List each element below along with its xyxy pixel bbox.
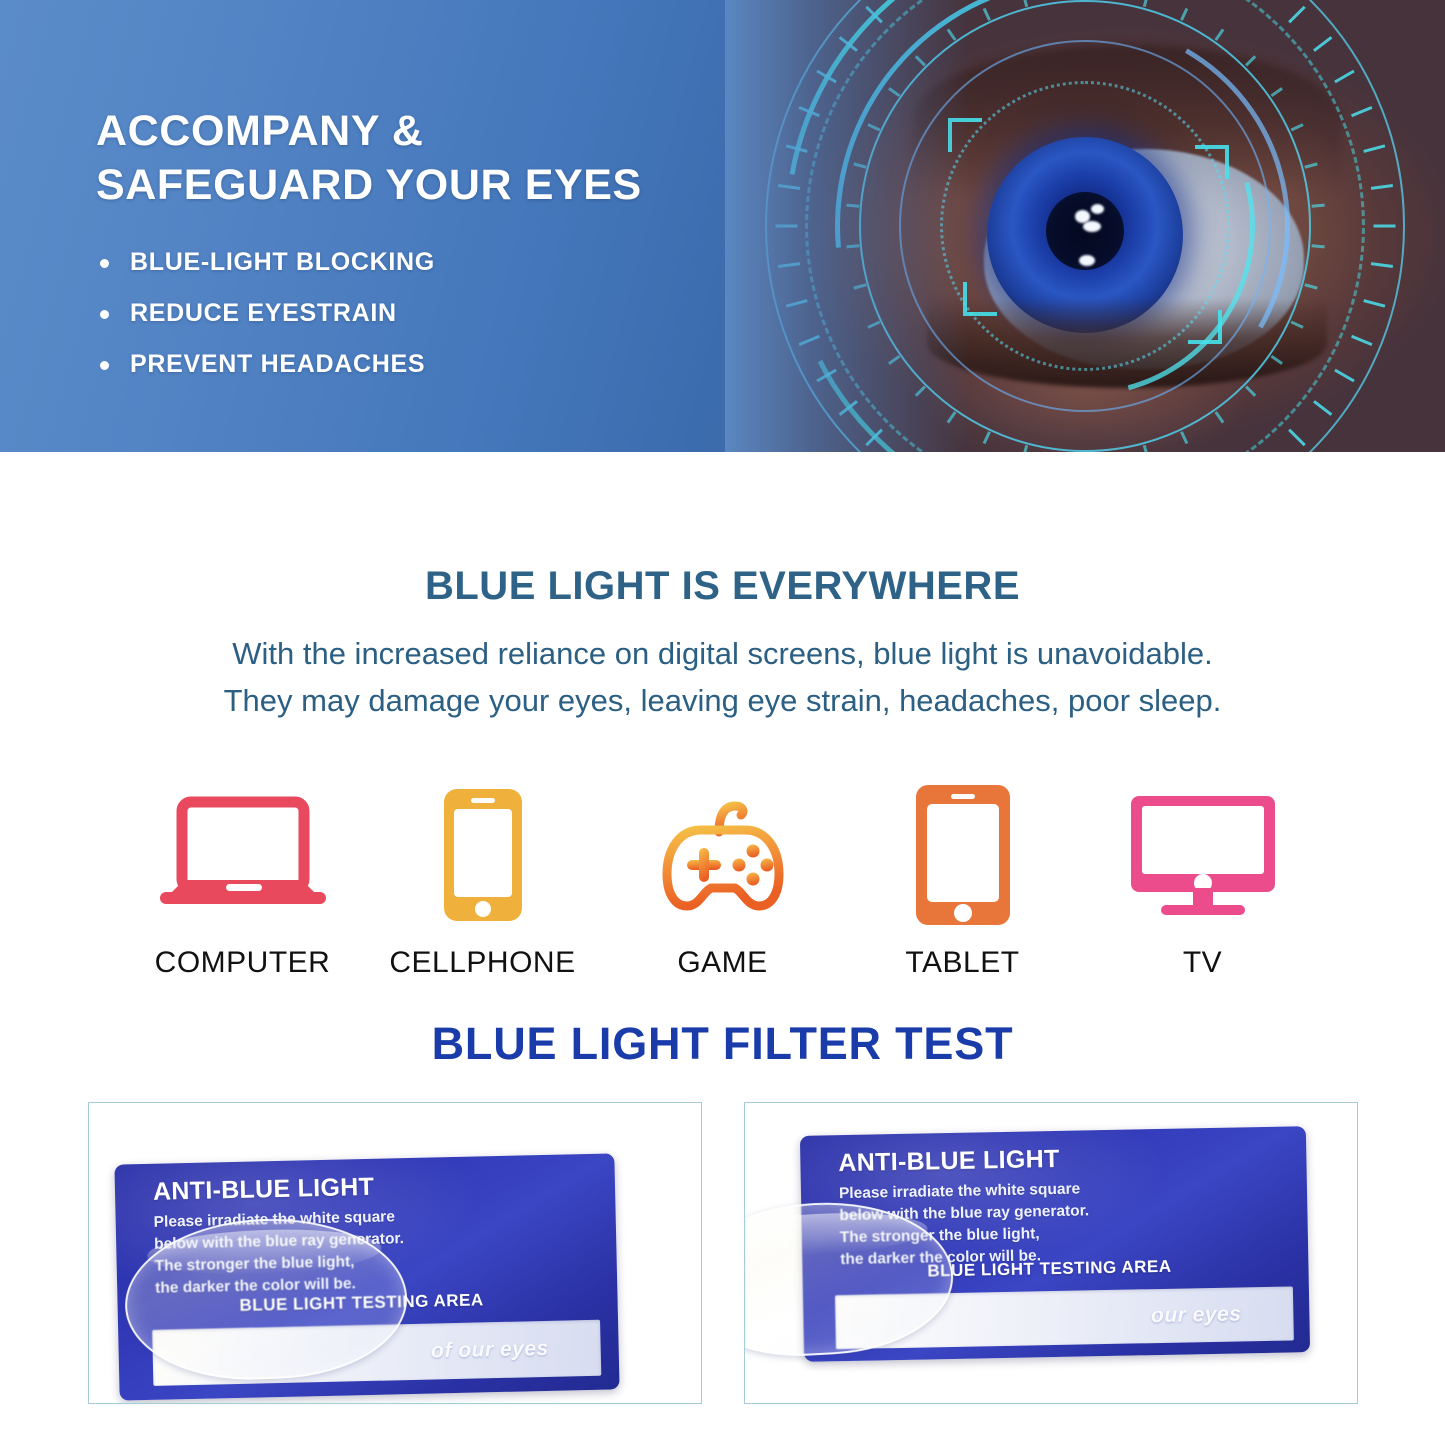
section-heading-everywhere: BLUE LIGHT IS EVERYWHERE <box>0 564 1445 609</box>
section-subtitle-everywhere: With the increased reliance on digital s… <box>0 631 1445 724</box>
eye-hud-image <box>725 0 1445 452</box>
hero-benefit-list: BLUE-LIGHT BLOCKING REDUCE EYESTRAIN PRE… <box>96 248 716 379</box>
device-label: CELLPHONE <box>373 946 593 980</box>
hero-title-line-2: SAFEGUARD YOUR EYES <box>96 158 716 212</box>
filter-test-panel-left: ANTI-BLUE LIGHT Please irradiate the whi… <box>88 1102 702 1404</box>
device-label: COMPUTER <box>133 946 353 980</box>
device-label: TV <box>1093 946 1313 980</box>
card-strip-text: of our eyes <box>431 1337 549 1364</box>
section-heading-filter-test: BLUE LIGHT FILTER TEST <box>0 1018 1445 1070</box>
device-item-game: GAME <box>613 780 833 980</box>
device-item-tablet: TABLET <box>853 780 1073 980</box>
card-strip-text: our eyes <box>1151 1302 1242 1328</box>
filter-test-panel-right: ANTI-BLUE LIGHT Please irradiate the whi… <box>744 1102 1358 1404</box>
device-item-tv: TV <box>1093 780 1313 980</box>
hero-benefit-item: PREVENT HEADACHES <box>96 350 716 379</box>
tablet-icon <box>853 780 1073 930</box>
subtitle-line-2: They may damage your eyes, leaving eye s… <box>0 678 1445 725</box>
hero-banner: ACCOMPANY & SAFEGUARD YOUR EYES BLUE-LIG… <box>0 0 1445 452</box>
smartphone-icon <box>373 780 593 930</box>
filter-test-panels: ANTI-BLUE LIGHT Please irradiate the whi… <box>88 1102 1358 1404</box>
card-instruction-line-1: Please irradiate the white square <box>839 1178 1089 1205</box>
blue-light-everywhere-section: BLUE LIGHT IS EVERYWHERE With the increa… <box>0 452 1445 980</box>
device-label: TABLET <box>853 946 1073 980</box>
card-title: ANTI-BLUE LIGHT <box>838 1145 1060 1178</box>
hero-title: ACCOMPANY & SAFEGUARD YOUR EYES <box>96 104 716 212</box>
device-item-computer: COMPUTER <box>133 780 353 980</box>
image-left-fade <box>725 0 1445 452</box>
hero-benefit-item: BLUE-LIGHT BLOCKING <box>96 248 716 277</box>
gamepad-icon <box>613 780 833 930</box>
tv-icon <box>1093 780 1313 930</box>
device-item-cellphone: CELLPHONE <box>373 780 593 980</box>
hero-title-line-1: ACCOMPANY & <box>96 104 716 158</box>
laptop-icon <box>133 780 353 930</box>
device-icon-row: COMPUTER CELLPHONE <box>133 780 1313 980</box>
device-label: GAME <box>613 946 833 980</box>
card-title: ANTI-BLUE LIGHT <box>153 1173 375 1207</box>
hero-copy: ACCOMPANY & SAFEGUARD YOUR EYES BLUE-LIG… <box>96 104 716 401</box>
subtitle-line-1: With the increased reliance on digital s… <box>0 631 1445 678</box>
hero-benefit-item: REDUCE EYESTRAIN <box>96 299 716 328</box>
